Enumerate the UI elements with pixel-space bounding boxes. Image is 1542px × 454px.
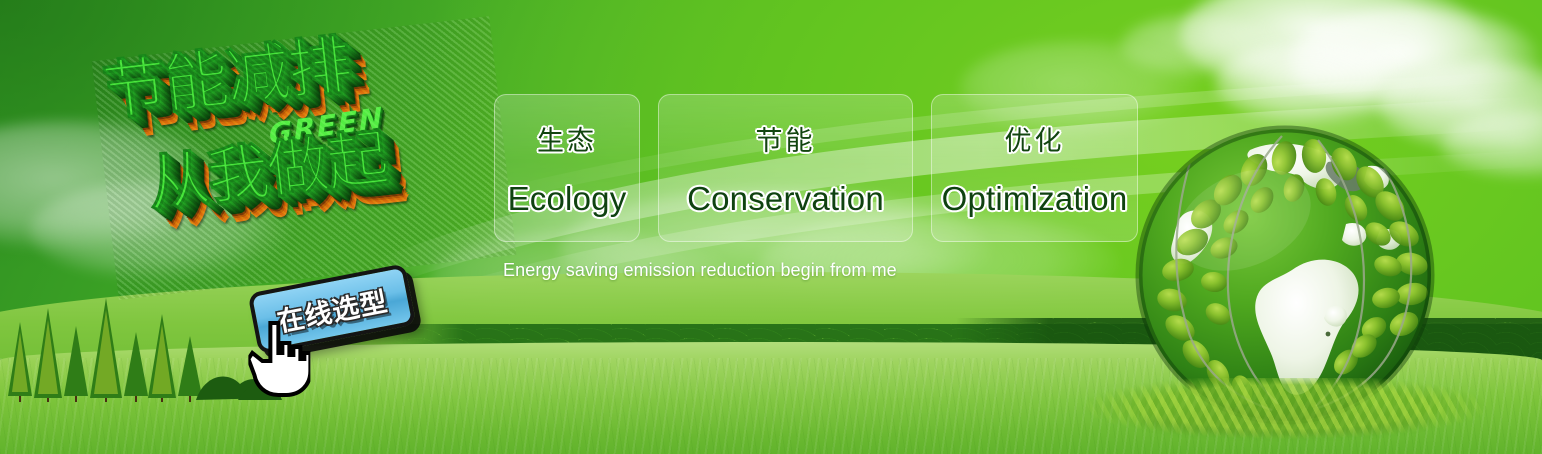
tagline: Energy saving emission reduction begin f… — [503, 260, 897, 281]
headline-3d-text: 节能减排 GREEN 从我做起 — [92, 16, 517, 300]
headline-line-2: 从我做起 — [144, 112, 507, 218]
feature-card-ecology[interactable]: 生态 Ecology — [494, 94, 640, 242]
feature-card-optimization-en: Optimization — [942, 180, 1128, 218]
feature-card-conservation[interactable]: 节能 Conservation — [658, 94, 913, 242]
feature-card-conservation-cn: 节能 — [756, 119, 816, 158]
feature-card-ecology-cn: 生态 — [537, 119, 597, 158]
feature-card-optimization[interactable]: 优化 Optimization — [931, 94, 1138, 242]
feature-cards: 生态 Ecology 节能 Conservation 优化 Optimizati… — [494, 94, 1138, 242]
feature-card-conservation-en: Conservation — [687, 180, 884, 218]
feature-card-ecology-en: Ecology — [508, 180, 627, 218]
fallen-leaves — [1036, 378, 1536, 450]
hand-pointer-icon — [248, 319, 310, 397]
green-earth-globe — [1132, 122, 1438, 428]
feature-card-optimization-cn: 优化 — [1005, 119, 1065, 158]
green-energy-banner: 节能减排 GREEN 从我做起 在线选型 生态 Ecology 节能 Conse… — [0, 0, 1542, 454]
